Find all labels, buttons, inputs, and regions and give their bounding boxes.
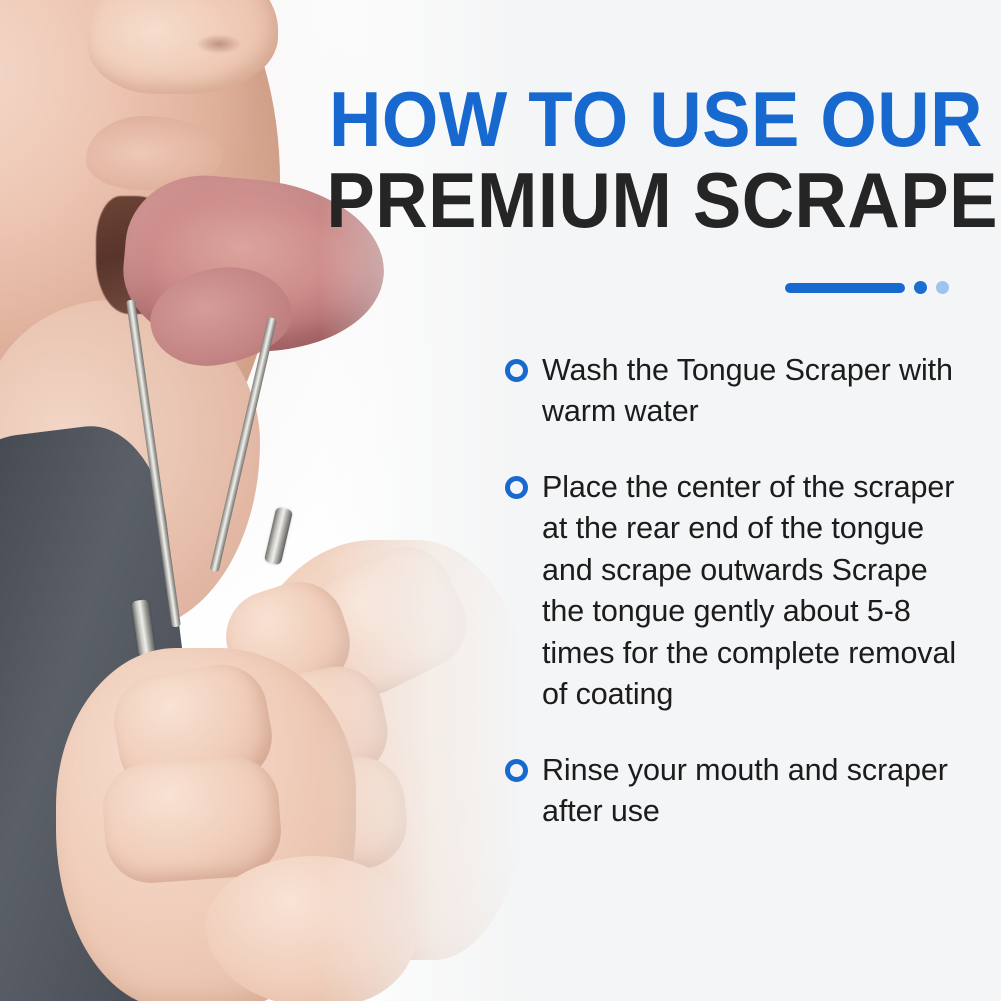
list-item: Wash the Tongue Scraper with warm water — [505, 350, 975, 433]
headline-line-2: PREMIUM SCRAPER — [326, 163, 983, 238]
nostril — [196, 34, 242, 54]
list-item: Place the center of the scraper at the r… — [505, 467, 975, 716]
circle-outline-icon — [505, 759, 528, 782]
content-column: HOW TO USE OUR PREMIUM SCRAPER Wash the … — [260, 0, 1001, 1001]
circle-outline-icon — [505, 359, 528, 382]
product-instruction-poster: HOW TO USE OUR PREMIUM SCRAPER Wash the … — [0, 0, 1001, 1001]
circle-outline-icon — [505, 476, 528, 499]
divider-dot-faded-icon — [936, 281, 949, 294]
instruction-steps-list: Wash the Tongue Scraper with warm water … — [505, 350, 975, 833]
list-item: Rinse your mouth and scraper after use — [505, 750, 975, 833]
step-text: Wash the Tongue Scraper with warm water — [542, 350, 975, 433]
divider-bar — [785, 283, 905, 293]
page-title: HOW TO USE OUR PREMIUM SCRAPER — [277, 82, 983, 238]
decorative-divider — [785, 281, 949, 294]
step-text: Rinse your mouth and scraper after use — [542, 750, 975, 833]
divider-dot-solid-icon — [914, 281, 927, 294]
step-text: Place the center of the scraper at the r… — [542, 467, 975, 716]
headline-line-1: HOW TO USE OUR — [326, 82, 983, 157]
